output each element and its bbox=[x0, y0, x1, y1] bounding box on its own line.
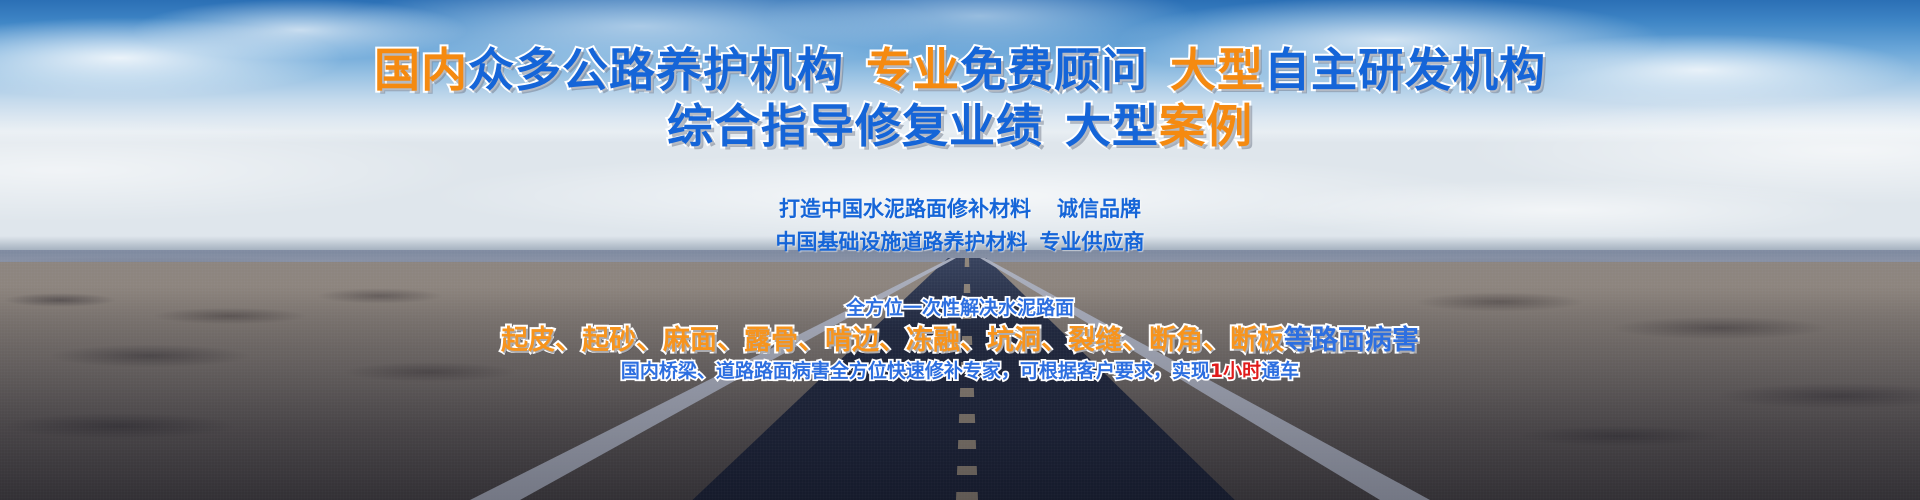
defect-item-3: 露骨、 bbox=[744, 325, 825, 356]
tagline-highlight-duration: 1小时 bbox=[1210, 360, 1261, 382]
headline-1-seg-2: 专业 bbox=[866, 43, 960, 97]
tagline-line: 国内桥梁、道路路面病害全方位快速修补专家，可根据客户要求，实现1小时通车 bbox=[0, 356, 1920, 383]
defect-item-8: 断角、 bbox=[1149, 325, 1230, 356]
promo-banner: 国内众多公路养护机构专业免费顾问大型自主研发机构 综合指导修复业绩大型案例 打造… bbox=[0, 0, 1920, 500]
defect-item-0: 起皮、 bbox=[501, 325, 582, 356]
headline-1-seg-3: 免费顾问 bbox=[960, 43, 1148, 97]
defect-item-suffix: 等路面病害 bbox=[1284, 325, 1419, 356]
headline-2-seg-0: 综合指导修复业绩 bbox=[667, 99, 1043, 153]
defect-item-4: 啃边、 bbox=[825, 325, 906, 356]
bottom-lead-text: 全方位一次性解决水泥路面 bbox=[846, 297, 1074, 319]
defect-list-line: 起皮、起砂、麻面、露骨、啃边、冻融、坑洞、裂缝、断角、断板等路面病害 bbox=[0, 318, 1920, 357]
headline-1-seg-1: 众多公路养护机构 bbox=[468, 43, 844, 97]
defect-item-5: 冻融、 bbox=[906, 325, 987, 356]
banner-content: 国内众多公路养护机构专业免费顾问大型自主研发机构 综合指导修复业绩大型案例 打造… bbox=[0, 0, 1920, 500]
subheadline-2-b: 专业供应商 bbox=[1040, 230, 1145, 254]
defect-item-2: 麻面、 bbox=[663, 325, 744, 356]
defect-item-1: 起砂、 bbox=[582, 325, 663, 356]
headline-line-1: 国内众多公路养护机构专业免费顾问大型自主研发机构 bbox=[0, 44, 1920, 96]
headline-1-seg-5: 自主研发机构 bbox=[1264, 43, 1546, 97]
subheadline-line-1: 打造中国水泥路面修补材料诚信品牌 bbox=[0, 193, 1920, 223]
tagline-seg-0: 国内桥梁、道路路面病害全方位快速修补专家，可根据客户要求，实现 bbox=[621, 360, 1210, 382]
subheadline-line-2: 中国基础设施道路养护材料专业供应商 bbox=[0, 226, 1920, 256]
subheadline-1-a: 打造中国水泥路面修补材料 bbox=[779, 197, 1031, 221]
defect-item-7: 裂缝、 bbox=[1068, 325, 1149, 356]
defect-item-6: 坑洞、 bbox=[987, 325, 1068, 356]
headline-2-seg-2: 案例 bbox=[1159, 99, 1253, 153]
tagline-seg-2: 通车 bbox=[1261, 360, 1299, 382]
bottom-lead-line: 全方位一次性解决水泥路面 bbox=[0, 293, 1920, 320]
headline-1-seg-0: 国内 bbox=[374, 43, 468, 97]
headline-2-seg-1: 大型 bbox=[1065, 99, 1159, 153]
defect-item-9: 断板 bbox=[1230, 325, 1284, 356]
headline-line-2: 综合指导修复业绩大型案例 bbox=[0, 100, 1920, 152]
subheadline-1-b: 诚信品牌 bbox=[1057, 197, 1141, 221]
subheadline-2-a: 中国基础设施道路养护材料 bbox=[776, 230, 1028, 254]
headline-1-seg-4: 大型 bbox=[1170, 43, 1264, 97]
